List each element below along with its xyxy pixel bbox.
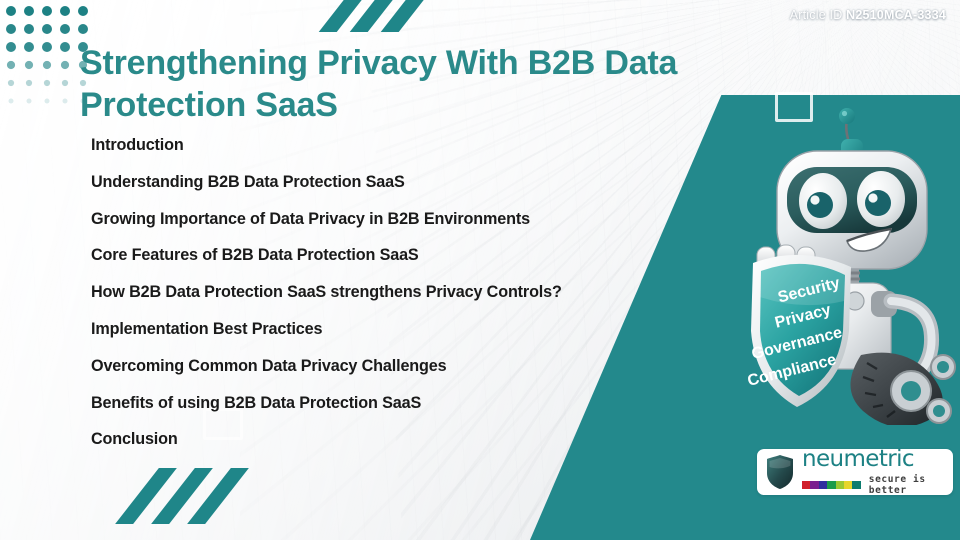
table-of-contents: Introduction Understanding B2B Data Prot… xyxy=(91,137,711,468)
presentation-slide: Article ID N2510MCA-3334 Strengthening P… xyxy=(0,0,960,540)
logo-text-group: neumetric secure is better xyxy=(802,448,945,496)
list-item[interactable]: Overcoming Common Data Privacy Challenge… xyxy=(91,358,711,374)
list-item[interactable]: Benefits of using B2B Data Protection Sa… xyxy=(91,395,711,411)
robot-mascot-illustration: Security Privacy Governance Compliance xyxy=(735,105,960,425)
list-item[interactable]: How B2B Data Protection SaaS strengthens… xyxy=(91,284,711,300)
list-item[interactable]: Core Features of B2B Data Protection Saa… xyxy=(91,247,711,263)
logo-subline: secure is better xyxy=(802,474,945,496)
diagonal-stripes-bottom xyxy=(135,468,265,524)
list-item[interactable]: Introduction xyxy=(91,137,711,153)
article-id-label: Article ID xyxy=(790,8,843,22)
brand-logo[interactable]: neumetric secure is better xyxy=(757,449,953,495)
robot-tread-wheel xyxy=(850,353,955,425)
list-item[interactable]: Growing Importance of Data Privacy in B2… xyxy=(91,211,711,227)
article-id-code: N2510MCA-3334 xyxy=(846,8,946,22)
article-id: Article ID N2510MCA-3334 xyxy=(790,8,946,22)
page-title: Strengthening Privacy With B2B Data Prot… xyxy=(80,42,760,126)
logo-tagline: secure is better xyxy=(869,474,945,496)
logo-shield-icon xyxy=(765,454,795,490)
diagonal-stripes-top xyxy=(330,0,450,32)
logo-wordmark: neumetric xyxy=(802,448,945,471)
list-item[interactable]: Implementation Best Practices xyxy=(91,321,711,337)
logo-color-bar xyxy=(802,481,861,489)
security-shield: Security Privacy Governance Compliance xyxy=(746,255,851,407)
list-item[interactable]: Understanding B2B Data Protection SaaS xyxy=(91,174,711,190)
list-item[interactable]: Conclusion xyxy=(91,431,711,447)
